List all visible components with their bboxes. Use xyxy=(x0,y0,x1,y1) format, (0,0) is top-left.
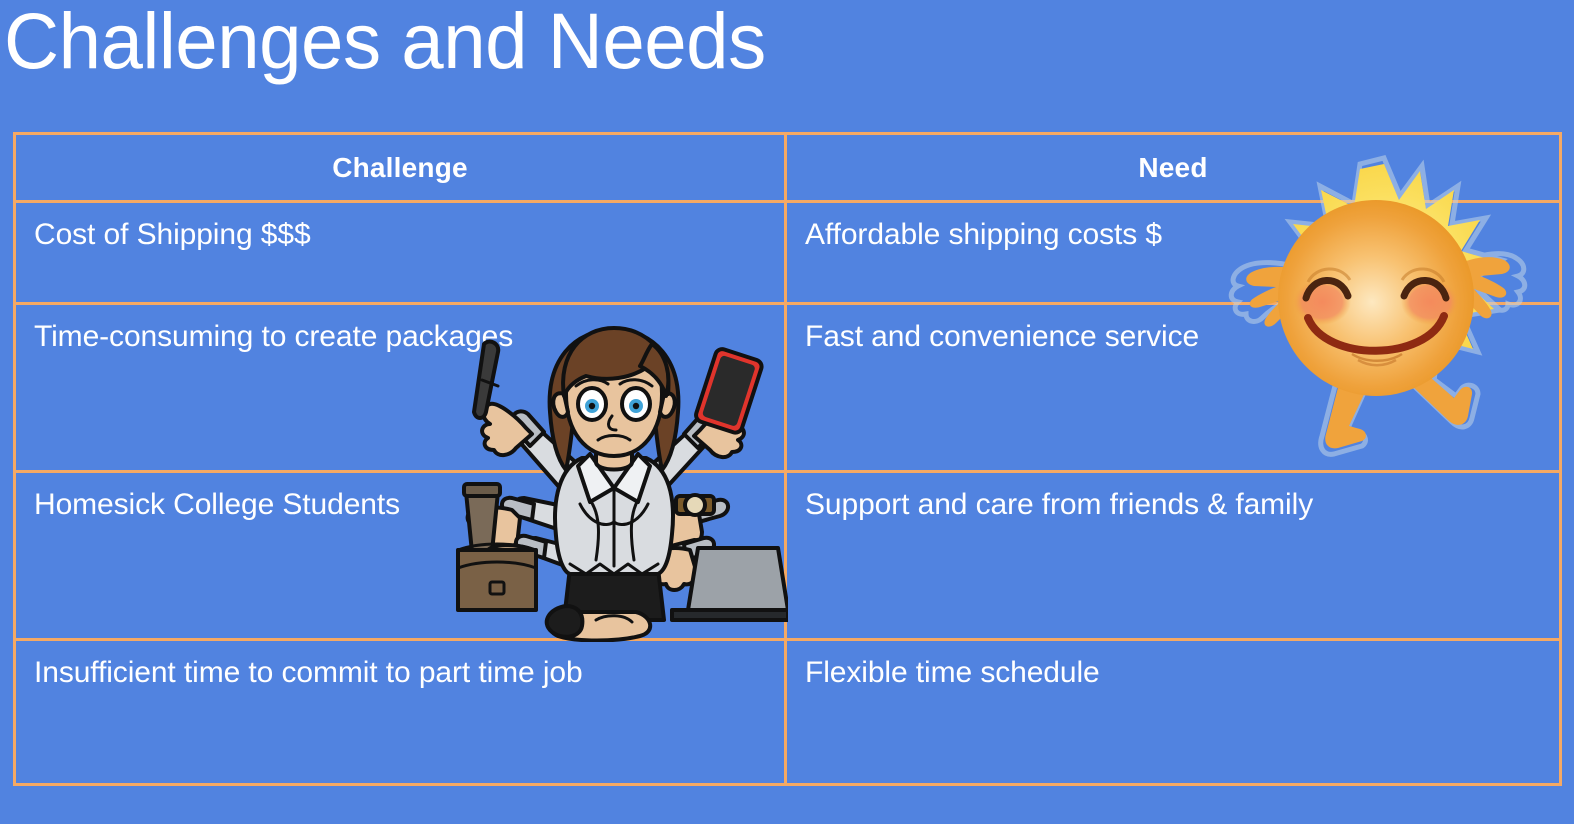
need-text-1: Affordable shipping costs $ xyxy=(787,203,1559,253)
challenges-and-needs-table: Challenge Need Cost of Shipping $$$ Affo… xyxy=(13,132,1562,786)
cell-need-4: Flexible time schedule xyxy=(786,640,1561,785)
cell-challenge-4: Insufficient time to commit to part time… xyxy=(15,640,786,785)
table-row: Homesick College Students Support and ca… xyxy=(15,472,1561,640)
cell-need-2: Fast and convenience service xyxy=(786,304,1561,472)
column-header-need: Need xyxy=(786,134,1561,202)
cell-need-1: Affordable shipping costs $ xyxy=(786,202,1561,304)
slide-canvas: Challenges and Needs Challenge Need Cost… xyxy=(0,0,1574,824)
cell-challenge-1: Cost of Shipping $$$ xyxy=(15,202,786,304)
table-row: Insufficient time to commit to part time… xyxy=(15,640,1561,785)
table-header: Challenge Need xyxy=(15,134,1561,202)
challenge-text-2: Time-consuming to create packages xyxy=(16,305,784,355)
need-text-3: Support and care from friends & family xyxy=(787,473,1559,523)
need-text-4: Flexible time schedule xyxy=(787,641,1559,691)
cell-challenge-3: Homesick College Students xyxy=(15,472,786,640)
cell-need-3: Support and care from friends & family xyxy=(786,472,1561,640)
table-header-row: Challenge Need xyxy=(15,134,1561,202)
challenge-text-4: Insufficient time to commit to part time… xyxy=(16,641,784,691)
page-title: Challenges and Needs xyxy=(4,0,766,91)
cell-challenge-2: Time-consuming to create packages xyxy=(15,304,786,472)
need-text-2: Fast and convenience service xyxy=(787,305,1559,355)
challenge-text-3: Homesick College Students xyxy=(16,473,784,523)
challenge-text-1: Cost of Shipping $$$ xyxy=(16,203,784,253)
table-body: Cost of Shipping $$$ Affordable shipping… xyxy=(15,202,1561,785)
table-row: Time-consuming to create packages Fast a… xyxy=(15,304,1561,472)
table-row: Cost of Shipping $$$ Affordable shipping… xyxy=(15,202,1561,304)
column-header-challenge: Challenge xyxy=(15,134,786,202)
